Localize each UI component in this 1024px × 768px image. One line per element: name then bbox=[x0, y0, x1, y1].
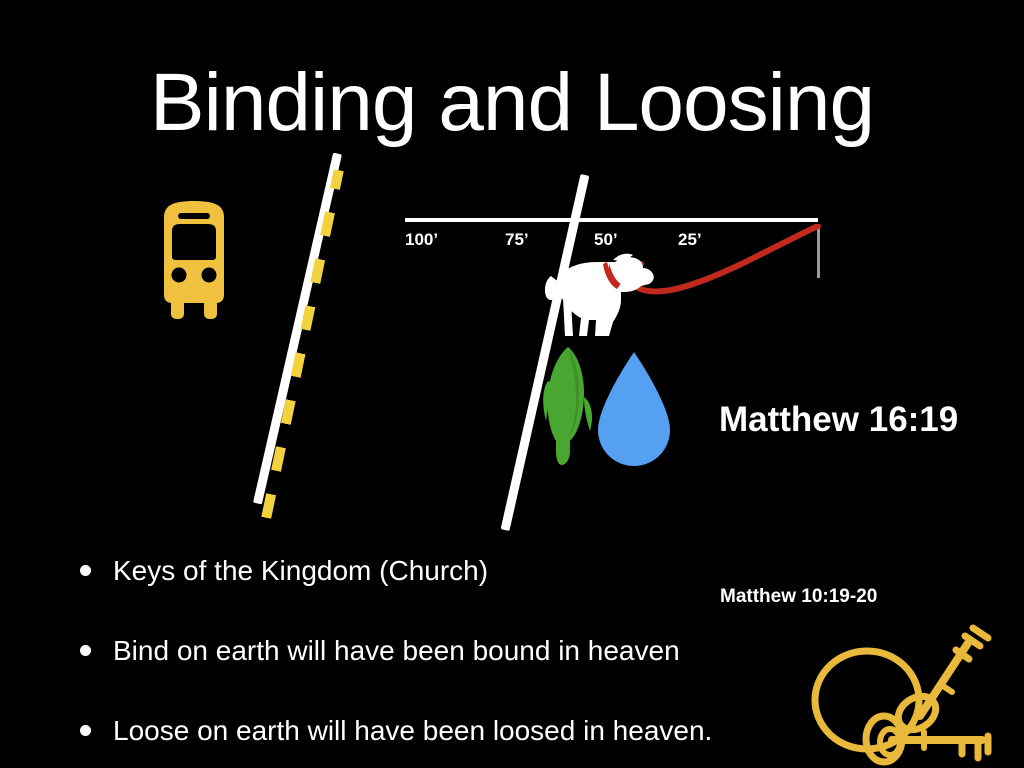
slide-canvas: Binding and Loosing 100’ 75’ 50’ 25’ bbox=[0, 0, 1024, 768]
list-item: Keys of the Kingdom (Church) bbox=[76, 551, 916, 631]
bus-icon bbox=[152, 199, 236, 321]
bullet-text: Keys of the Kingdom (Church) bbox=[113, 551, 488, 591]
cow-icon bbox=[543, 248, 658, 338]
bullet-list: Keys of the Kingdom (Church) Bind on ear… bbox=[76, 551, 916, 768]
bullet-dot-icon bbox=[80, 565, 91, 576]
distance-ruler-line bbox=[405, 218, 818, 222]
road-center-dashed-line bbox=[261, 169, 343, 519]
list-item: Bind on earth will have been bound in he… bbox=[76, 631, 916, 711]
list-item: Loose on earth will have been loosed in … bbox=[76, 711, 916, 768]
ruler-tick-100: 100’ bbox=[405, 230, 438, 250]
water-droplet-icon bbox=[596, 350, 672, 468]
bullet-dot-icon bbox=[80, 725, 91, 736]
keys-icon bbox=[802, 612, 1024, 768]
page-title: Binding and Loosing bbox=[0, 62, 1024, 144]
corn-icon bbox=[542, 345, 594, 467]
scripture-reference-main: Matthew 16:19 bbox=[719, 400, 958, 440]
bullet-text: Loose on earth will have been loosed in … bbox=[113, 711, 712, 751]
bullet-dot-icon bbox=[80, 645, 91, 656]
bullet-text: Bind on earth will have been bound in he… bbox=[113, 631, 680, 671]
ruler-tick-75: 75’ bbox=[505, 230, 529, 250]
